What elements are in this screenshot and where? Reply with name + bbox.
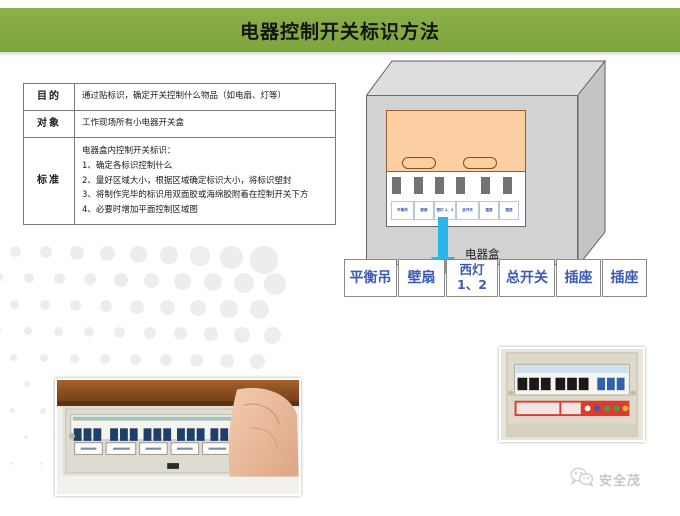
decorative-dot <box>24 273 34 283</box>
breaker-switch <box>392 177 401 194</box>
page-title: 电器控制开关标识方法 <box>240 17 440 44</box>
decorative-dot <box>40 462 43 465</box>
decorative-dot <box>54 273 65 284</box>
decorative-dot <box>100 354 110 364</box>
decorative-dot <box>190 354 203 367</box>
box-top-face <box>366 60 606 96</box>
switch-label-socket-2: 插座 <box>602 259 647 297</box>
decorative-dot <box>144 327 156 339</box>
decorative-dot <box>220 300 238 318</box>
decorative-dot <box>10 354 17 361</box>
decorative-dot <box>264 273 286 295</box>
switch-label-main-switch: 总开关 <box>499 259 555 297</box>
decorative-dot <box>10 246 21 257</box>
switch-label-west-light-line1: 西灯 <box>457 263 487 278</box>
photo-distribution-box-closeup <box>499 347 645 442</box>
breaker-switch <box>435 177 444 194</box>
decorative-dot <box>264 327 281 344</box>
decorative-dot <box>100 246 115 261</box>
decorative-dot <box>190 246 210 266</box>
wechat-icon <box>570 467 594 492</box>
standard-item-3: 3、将制作完毕的标识用双面胶或海绵胶附着在控制开关下方 <box>82 188 328 203</box>
decorative-dot <box>204 327 218 341</box>
decorative-dot <box>40 354 48 362</box>
standard-item-4: 4、必要时增加平面控制区域图 <box>82 203 328 218</box>
decorative-dot <box>174 327 187 340</box>
row-value-purpose: 通过贴标识，确定开关控制什么物品（如电扇、灯等） <box>75 84 336 111</box>
decorative-dot <box>130 354 141 365</box>
box-side-face <box>578 60 606 265</box>
decorative-dot <box>160 354 172 366</box>
decorative-dot <box>220 354 234 368</box>
row-label-object: 对象 <box>24 111 75 138</box>
decorative-dot <box>190 300 206 316</box>
decorative-dot <box>114 273 128 287</box>
decorative-dot <box>40 300 50 310</box>
standard-item-2: 2、量好区域大小，根据区域确定标识大小，将标识塑封 <box>82 174 328 189</box>
decorative-dot <box>10 462 13 465</box>
decorative-dot <box>250 300 269 319</box>
row-label-purpose: 目的 <box>24 84 75 111</box>
row-label-standard: 标准 <box>24 138 75 225</box>
watermark-text: 安全茂 <box>599 470 641 489</box>
decorative-dot <box>10 300 19 309</box>
decorative-dot <box>10 408 15 413</box>
table-row: 标准 电器盒内控制开关标识： 1、确定各标识控制什么 2、量好区域大小，根据区域… <box>24 138 336 225</box>
decorative-dot <box>250 354 265 369</box>
switch-label-strip: 平衡吊 壁扇 西灯 1、2 总开关 插座 插座 <box>344 259 648 297</box>
decorative-dot <box>130 300 144 314</box>
decorative-dot <box>234 327 250 343</box>
slide-header-bar: 电器控制开关标识方法 <box>0 8 680 52</box>
breaker-switch <box>481 177 490 194</box>
decorative-dot <box>160 300 175 315</box>
breaker-switch <box>503 177 512 194</box>
decorative-dot <box>144 273 159 288</box>
switch-label-west-light: 西灯 1、2 <box>446 259 498 297</box>
table-row: 对象 工作现场所有小电器开关盒 <box>24 111 336 138</box>
decorative-dot <box>220 246 243 269</box>
row-value-object: 工作现场所有小电器开关盒 <box>75 111 336 138</box>
decorative-dot <box>24 435 28 439</box>
switch-label-socket-1: 插座 <box>556 259 601 297</box>
decorative-dot <box>24 327 32 335</box>
panel-slot-left <box>402 157 436 169</box>
decorative-dot <box>130 246 147 263</box>
photo-switch-box-with-hand <box>55 378 301 496</box>
header-shadow <box>0 52 680 56</box>
decorative-dot <box>70 246 84 260</box>
switch-label-balance-hoist: 平衡吊 <box>344 259 397 297</box>
decorative-dot <box>70 354 79 363</box>
mini-label: 插座 <box>499 201 519 220</box>
decorative-dot <box>250 246 278 274</box>
decorative-dot <box>70 300 81 311</box>
mini-label: 平衡吊 <box>391 201 414 220</box>
breaker-switch <box>414 177 423 194</box>
row-value-standard: 电器盒内控制开关标识： 1、确定各标识控制什么 2、量好区域大小，根据区域确定标… <box>75 138 336 225</box>
decorative-dot <box>160 246 178 264</box>
slide-root: 电器控制开关标识方法 目的 通过贴标识，确定开关控制什么物品（如电扇、灯等） 对… <box>0 0 680 516</box>
switch-label-west-light-line2: 1、2 <box>457 278 487 293</box>
standard-heading: 电器盒内控制开关标识： <box>82 144 328 159</box>
decorative-dot <box>24 381 30 387</box>
mini-label: 总开关 <box>456 201 479 220</box>
decorative-dot <box>204 273 222 291</box>
decorative-dot <box>234 273 254 293</box>
decorative-dot <box>114 327 125 338</box>
breaker-switch-row <box>392 177 522 197</box>
spec-table: 目的 通过贴标识，确定开关控制什么物品（如电扇、灯等） 对象 工作现场所有小电器… <box>23 83 336 225</box>
switch-label-wall-fan: 壁扇 <box>398 259 445 297</box>
decorative-dot <box>0 273 3 282</box>
standard-item-1: 1、确定各标识控制什么 <box>82 159 328 174</box>
decorative-dot <box>84 273 96 285</box>
watermark: 安全茂 <box>570 466 670 492</box>
decorative-dot <box>0 327 1 334</box>
mini-label: 插座 <box>479 201 499 220</box>
decorative-dot <box>54 327 63 336</box>
decorative-dot <box>174 273 191 290</box>
decorative-dot <box>40 246 52 258</box>
breaker-switch <box>456 177 465 194</box>
table-row: 目的 通过贴标识，确定开关控制什么物品（如电扇、灯等） <box>24 84 336 111</box>
decorative-dot <box>100 300 112 312</box>
decorative-dot <box>40 408 46 414</box>
panel-slot-right <box>463 157 497 169</box>
decorative-dot <box>84 327 94 337</box>
